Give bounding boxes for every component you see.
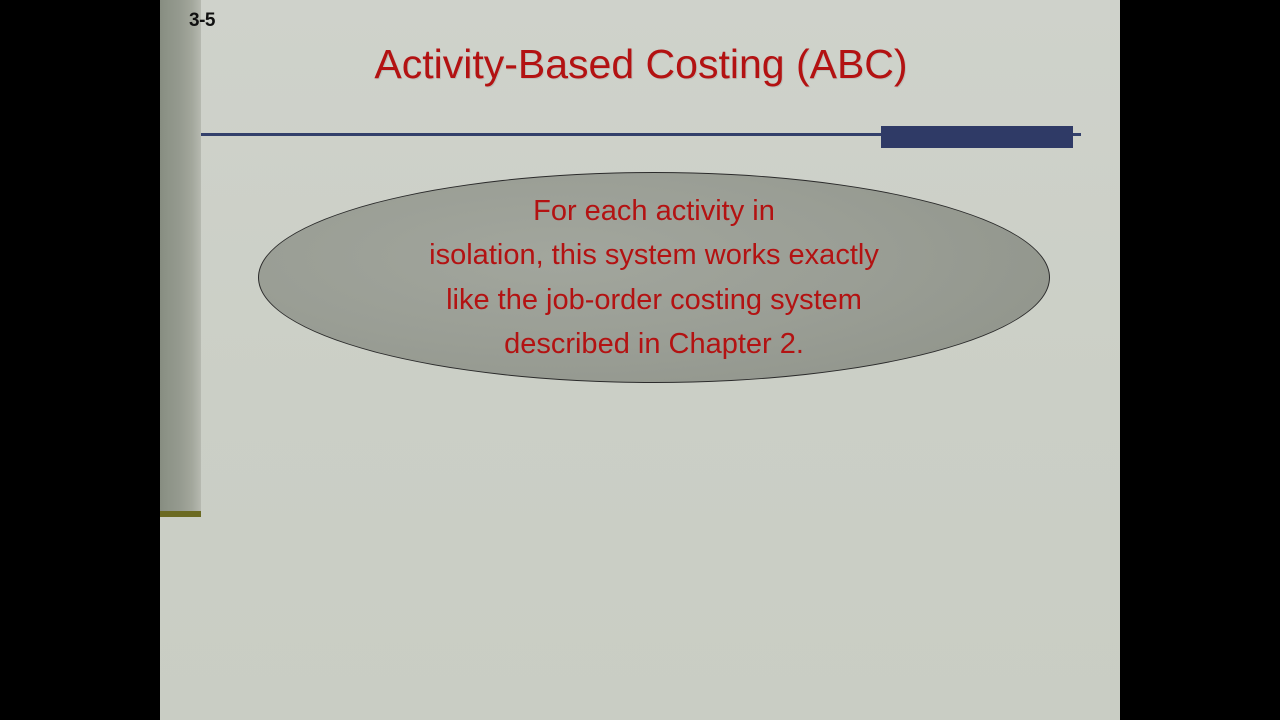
page-title: Activity-Based Costing (ABC) [201, 43, 1081, 86]
slide-number: 3-5 [189, 11, 215, 30]
ellipse-callout-text: For each activity in isolation, this sys… [389, 189, 919, 365]
presentation-screen: 3-5 Activity-Based Costing (ABC) For eac… [0, 0, 1280, 720]
slide-canvas: 3-5 Activity-Based Costing (ABC) For eac… [160, 0, 1120, 720]
slide-left-accent-band-foot [160, 511, 201, 517]
ellipse-callout: For each activity in isolation, this sys… [258, 172, 1050, 383]
slide-left-accent-band [160, 0, 201, 512]
title-accent-block [881, 126, 1073, 148]
